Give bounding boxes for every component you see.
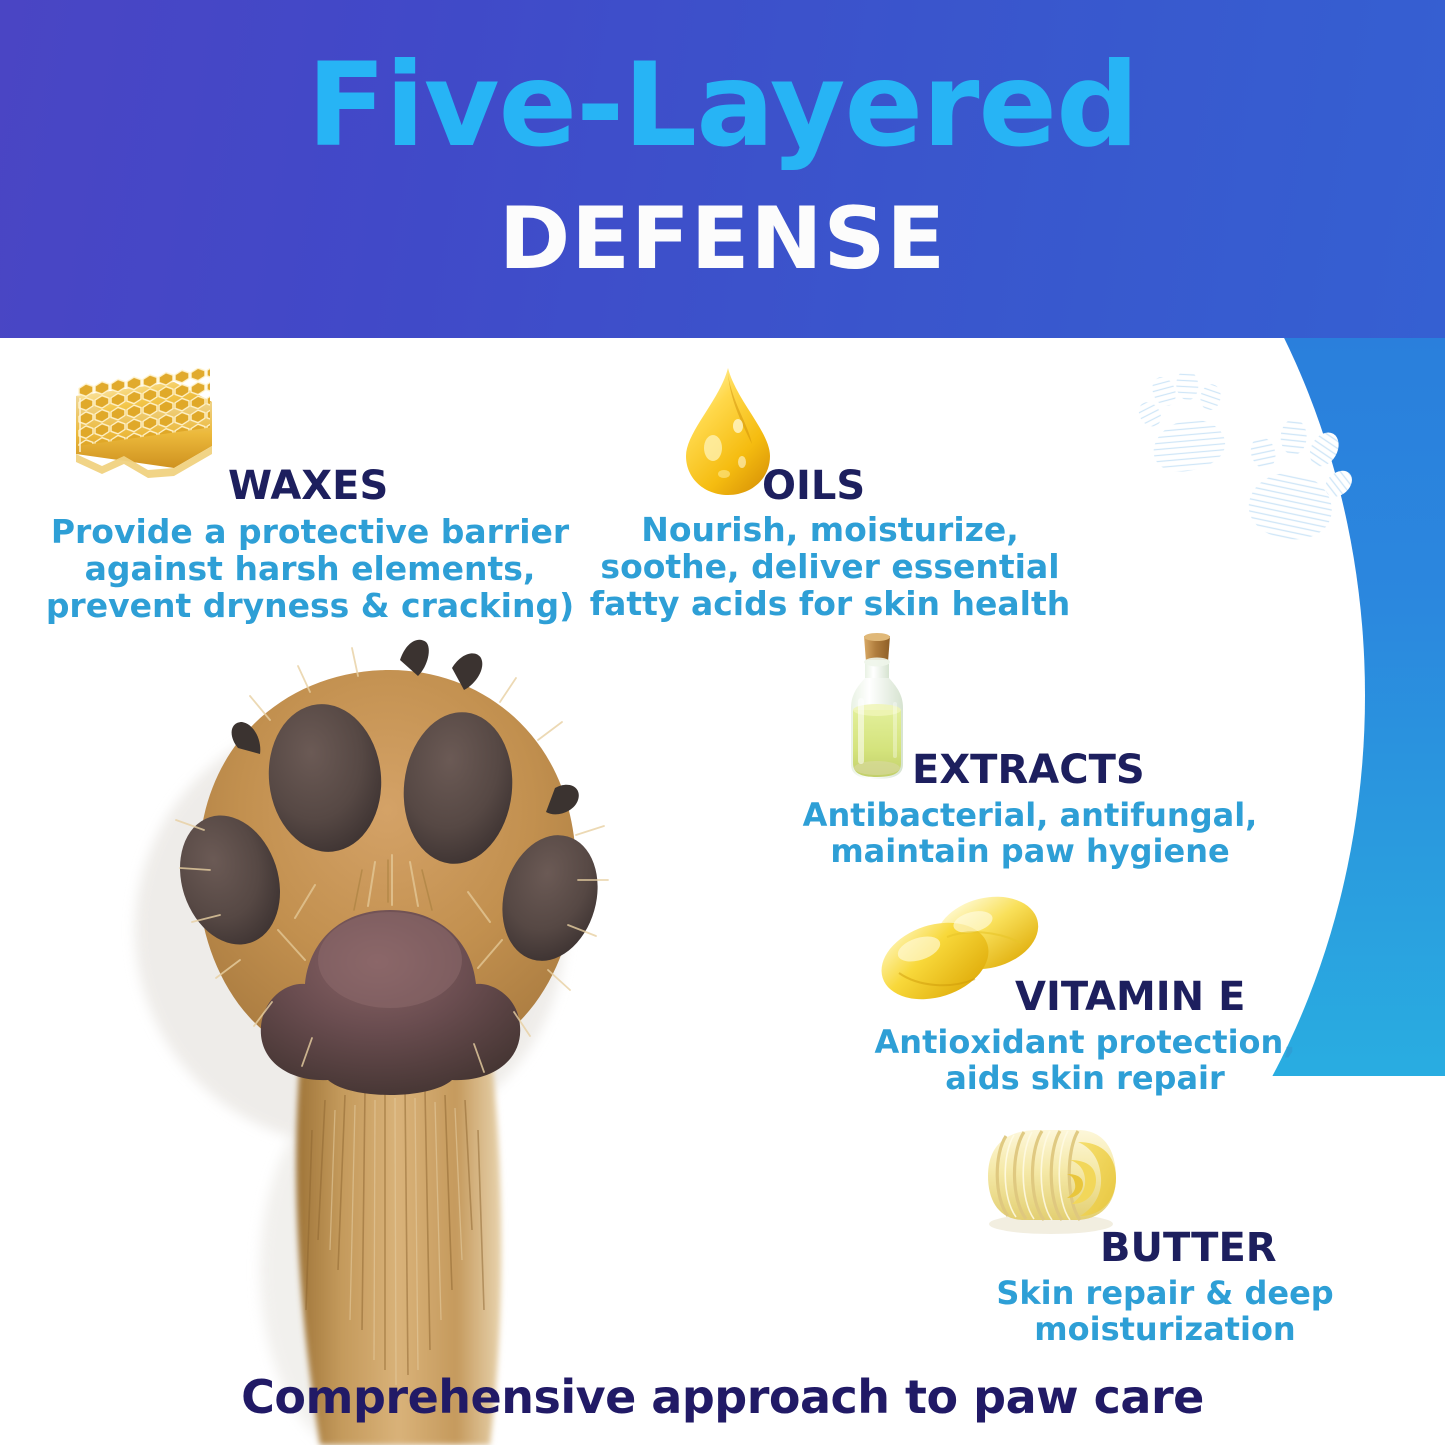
poster-header: Five-Layered DEFENSE [0, 0, 1445, 338]
ingredient-description: Antioxidant protection, aids skin repair [865, 1025, 1305, 1097]
ingredient-description: Nourish, moisturize, soothe, deliver ess… [575, 512, 1085, 623]
ingredient-title: OILS [762, 466, 865, 506]
extract-bottle-icon [838, 632, 916, 782]
infographic-poster: Five-Layered DEFENSE [0, 0, 1445, 1445]
footer-tagline: Comprehensive approach to paw care [0, 1374, 1445, 1420]
page-title: Five-Layered [0, 48, 1445, 164]
ingredient-title: EXTRACTS [912, 750, 1145, 790]
ingredient-title: VITAMIN E [1015, 977, 1245, 1017]
butter-curl-icon [966, 1120, 1126, 1240]
dog-paw-photo [100, 630, 680, 1445]
ingredient-description: Provide a protective barrier against har… [40, 514, 580, 625]
honeycomb-icon [62, 368, 222, 483]
paw-print-icon [1229, 404, 1366, 551]
page-subtitle: DEFENSE [0, 196, 1445, 282]
ingredient-description: Antibacterial, antifungal, maintain paw … [790, 798, 1270, 870]
ingredient-title: WAXES [228, 466, 388, 506]
ingredient-title: BUTTER [1100, 1228, 1277, 1268]
ingredient-description: Skin repair & deep moisturization [960, 1276, 1370, 1348]
